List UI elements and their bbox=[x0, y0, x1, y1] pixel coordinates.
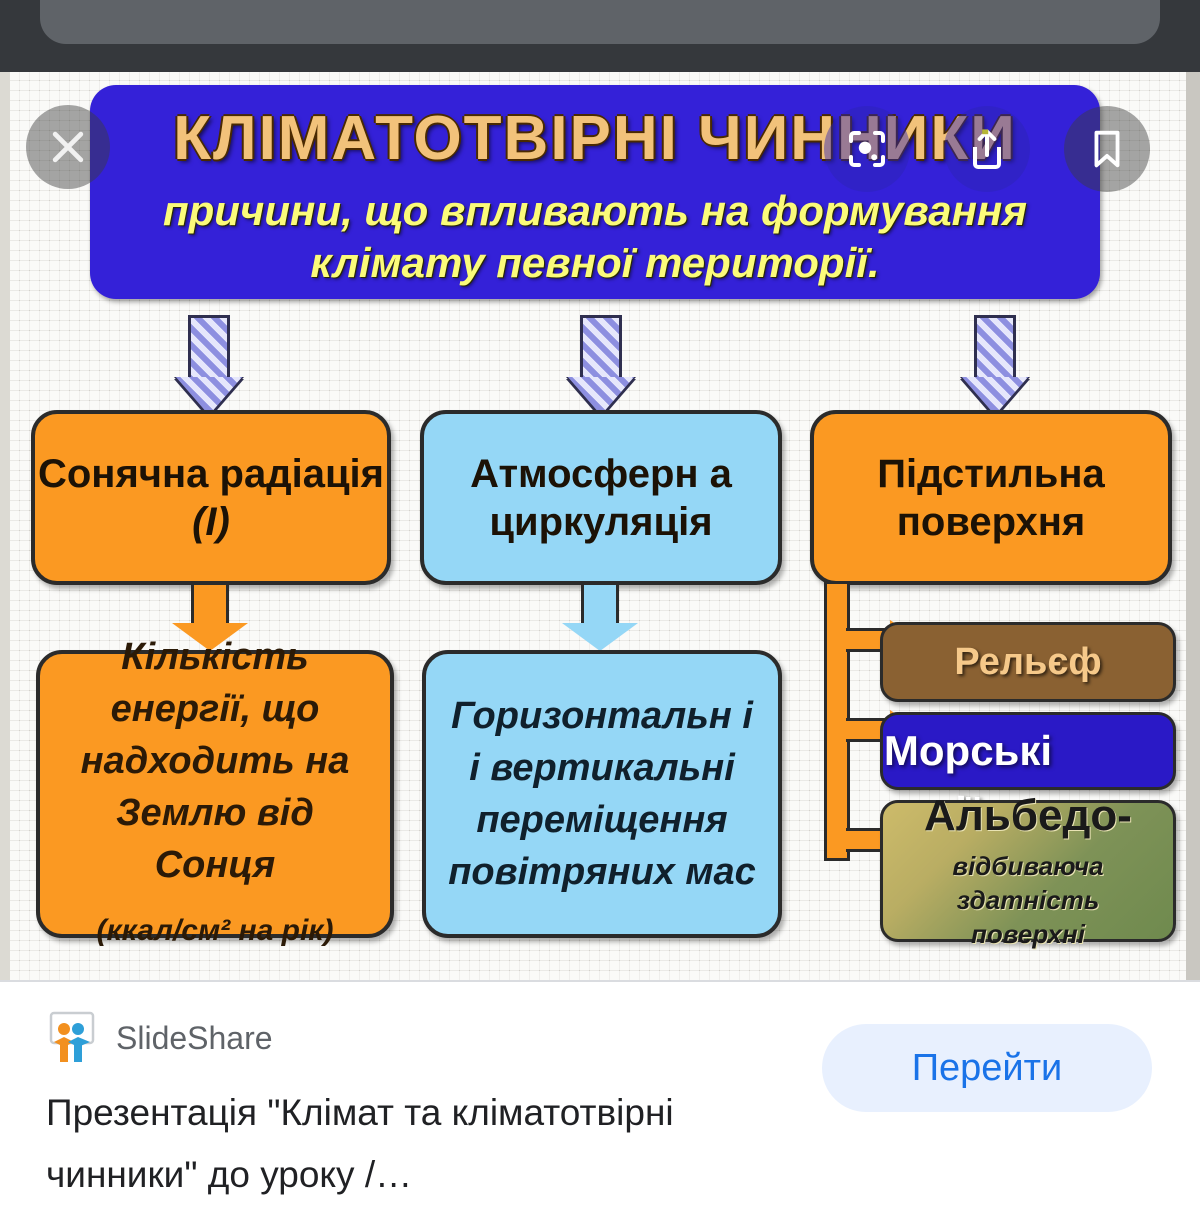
bookmark-icon bbox=[1084, 126, 1130, 172]
subitem-label-albedo: Альбедо- bbox=[924, 791, 1132, 841]
subitem-box-relief: Рельєф bbox=[880, 622, 1176, 702]
subitem-box-sea-currents: Морські bbox=[880, 712, 1176, 790]
subitem-label-sea-currents: Морські bbox=[884, 727, 1052, 775]
slide-subtitle-line1: причини, що впливають на формування bbox=[163, 187, 1027, 234]
factor-title-symbol: (І) bbox=[192, 500, 230, 544]
slideshare-logo-icon bbox=[46, 1010, 98, 1066]
visit-button[interactable]: Перейти bbox=[822, 1024, 1152, 1112]
attribution-bar: SlideShare Презентація "Клімат та клімат… bbox=[0, 980, 1200, 1202]
subitem-desc-albedo-line1: відбиваюча здатність bbox=[952, 851, 1103, 915]
slide-image[interactable]: КЛІМАТОТВІРНІ ЧИННИКИ причини, що вплива… bbox=[0, 72, 1200, 980]
browser-chrome: google.com bbox=[0, 0, 1200, 72]
subitem-desc-albedo: відбиваюча здатність поверхні bbox=[883, 849, 1173, 951]
google-lens-icon bbox=[843, 125, 891, 173]
blue-arrow-2 bbox=[562, 585, 638, 651]
factor-box-atmospheric-circulation: Атмосферн а циркуляція bbox=[420, 410, 782, 585]
detail-text-atmospheric-circulation: Горизонтальн і і вертикальні переміщення… bbox=[426, 690, 778, 898]
source-name: SlideShare bbox=[116, 1020, 273, 1057]
detail-main-text: Кількість енергії, що надходить на Землю… bbox=[81, 636, 350, 886]
share-button[interactable] bbox=[944, 106, 1030, 192]
subitem-label-relief: Рельєф bbox=[954, 641, 1101, 684]
factor-box-solar-radiation: Сонячна радіація (І) bbox=[31, 410, 391, 585]
slide-subtitle: причини, що впливають на формування клім… bbox=[120, 185, 1070, 289]
bookmark-button[interactable] bbox=[1064, 106, 1150, 192]
factor-label-atmospheric-circulation: Атмосферн а циркуляція bbox=[424, 450, 778, 546]
hatched-arrow-1 bbox=[176, 315, 242, 415]
close-button[interactable] bbox=[26, 105, 110, 189]
hatched-arrow-2 bbox=[568, 315, 634, 415]
detail-unit-text: (ккал/см² на рік) bbox=[56, 905, 374, 957]
subitem-box-albedo: Альбедо- відбиваюча здатність поверхні bbox=[880, 800, 1176, 942]
source-row[interactable]: SlideShare bbox=[46, 1010, 273, 1066]
close-icon bbox=[46, 125, 90, 169]
slide-subtitle-line2: клімату певної території. bbox=[310, 239, 879, 286]
slide-right-edge bbox=[1186, 72, 1200, 980]
detail-box-atmospheric-circulation: Горизонтальн і і вертикальні переміщення… bbox=[422, 650, 782, 938]
slide-banner: КЛІМАТОТВІРНІ ЧИННИКИ причини, що вплива… bbox=[90, 85, 1100, 299]
detail-box-solar-radiation: Кількість енергії, що надходить на Землю… bbox=[36, 650, 394, 938]
slide-left-edge bbox=[0, 72, 10, 980]
visit-button-label: Перейти bbox=[912, 1047, 1063, 1090]
result-title[interactable]: Презентація "Клімат та кліматотвірні чин… bbox=[46, 1082, 786, 1206]
share-icon bbox=[963, 125, 1011, 173]
factor-label-solar-radiation: Сонячна радіація (І) bbox=[35, 450, 387, 546]
factor-title-text: Сонячна радіація bbox=[38, 452, 384, 496]
address-bar[interactable]: google.com bbox=[40, 0, 1160, 44]
detail-text-solar-radiation: Кількість енергії, що надходить на Землю… bbox=[40, 631, 390, 957]
factor-label-underlying-surface: Підстильна поверхня bbox=[814, 450, 1168, 546]
factor-box-underlying-surface: Підстильна поверхня bbox=[810, 410, 1172, 585]
subitem-desc-albedo-line2: поверхні bbox=[971, 919, 1085, 949]
google-lens-button[interactable] bbox=[824, 106, 910, 192]
hatched-arrow-3 bbox=[962, 315, 1028, 415]
